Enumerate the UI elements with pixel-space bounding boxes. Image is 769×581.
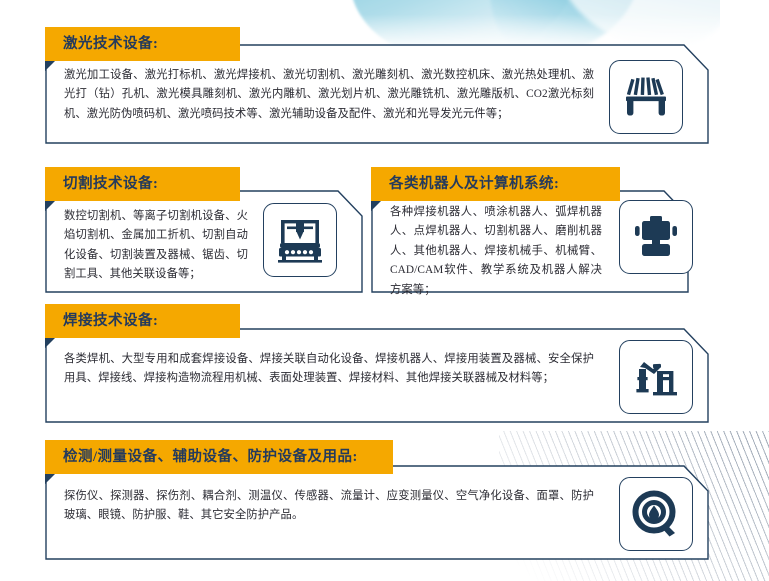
robot-unit-glyph (631, 214, 681, 260)
label-notch-laser (45, 61, 55, 71)
laser-machine-glyph (621, 74, 671, 120)
cnc-cutting-machine-glyph (275, 216, 325, 264)
detector-gauge-icon (619, 477, 693, 551)
section-label-cut: 切割技术设备: (45, 167, 240, 201)
section-label-laser: 激光技术设备: (45, 27, 240, 61)
section-body-insp: 探伤仪、探测器、探伤剂、耦合剂、测温仪、传感器、流量计、应变测量仪、空气净化设备… (64, 487, 594, 526)
section-body-robot: 各种焊接机器人、喷涂机器人、弧焊机器人、点焊机器人、切割机器人、磨削机器人、其他… (390, 203, 602, 300)
label-notch-robot (371, 201, 381, 211)
section-label-robot: 各类机器人及计算机系统: (371, 167, 620, 201)
section-label-weld: 焊接技术设备: (45, 304, 240, 338)
label-notch-cut (45, 201, 55, 211)
laser-machine-icon (609, 60, 683, 134)
detector-gauge-glyph (631, 489, 681, 539)
section-body-weld: 各类焊机、大型专用和成套焊接设备、焊接关联自动化设备、焊接机器人、焊接用装置及器… (64, 350, 594, 389)
robot-unit-icon (619, 200, 693, 274)
poster-page: 激光技术设备: 激光加工设备、激光打标机、激光焊接机、激光切割机、激光雕刻机、激… (0, 0, 769, 581)
section-body-cut: 数控切割机、等离子切割机设备、火焰切割机、金属加工折机、切割自动化设备、切割装置… (64, 207, 248, 285)
section-body-laser: 激光加工设备、激光打标机、激光焊接机、激光切割机、激光雕刻机、激光数控机床、激光… (64, 66, 594, 124)
section-label-insp: 检测/测量设备、辅助设备、防护设备及用品: (45, 440, 393, 474)
welding-robot-arm-icon (619, 340, 693, 414)
label-notch-weld (45, 338, 55, 348)
label-notch-insp (45, 474, 55, 484)
welding-robot-arm-glyph (631, 353, 681, 401)
cnc-cutting-machine-icon (263, 203, 337, 277)
